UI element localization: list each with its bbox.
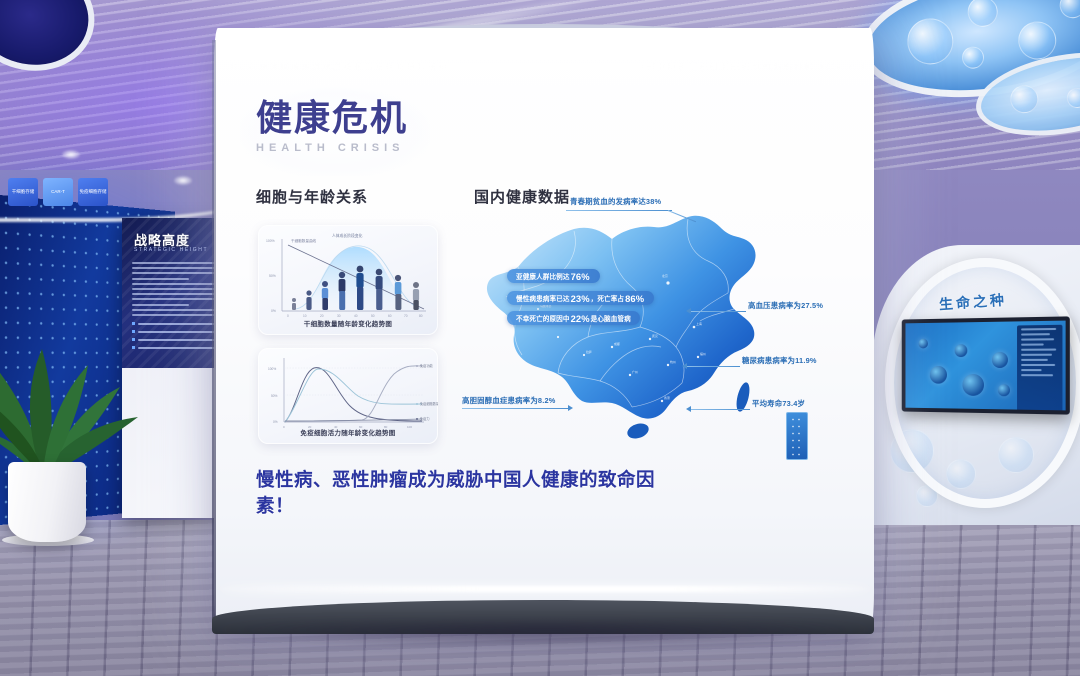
svg-text:免疫功能: 免疫功能 bbox=[420, 363, 434, 368]
strategy-panel-cards: 干细胞存储 CAR-T 免疫细胞存储 bbox=[8, 178, 108, 206]
svg-text:杭州: 杭州 bbox=[670, 359, 676, 364]
callout-anemia: 青春期贫血的发病率达38% bbox=[570, 196, 661, 207]
strategy-panel-subtitle: STRATEGIC HEIGHT bbox=[134, 247, 208, 253]
svg-text:广州: 广州 bbox=[632, 369, 638, 374]
svg-text:0%: 0% bbox=[271, 309, 276, 313]
callout-life-expectancy: 平均寿命73.4岁 bbox=[752, 398, 805, 409]
chart-card-immune-cells[interactable]: 100% 50% 0% 020 4060 80100 免疫功能 免疫细胞数量 免… bbox=[258, 348, 438, 444]
callout-diabetes: 糖尿病患病率为11.9% bbox=[742, 355, 817, 366]
svg-text:50%: 50% bbox=[269, 274, 276, 278]
section-title-cells: 细胞与年龄关系 bbox=[256, 186, 368, 207]
callout-cholesterol: 高胆固醇血症患病率为8.2% bbox=[462, 395, 556, 406]
svg-text:武汉: 武汉 bbox=[652, 333, 658, 338]
bubble-decor-icon bbox=[1065, 86, 1080, 109]
china-map-svg: 北京上海 武汉成都 拉萨乌鲁木齐 广州杭州 福州香港 西宁 bbox=[462, 205, 842, 455]
wall-left-edge bbox=[212, 40, 216, 618]
panel-card[interactable]: 免疫细胞存储 bbox=[78, 178, 108, 206]
tagline: 慢性病、恶性肿瘤成为威胁中国人健康的致命因素！ bbox=[256, 466, 676, 518]
pill-cardiovascular: 不幸死亡的原因中22%是心脑血管病 bbox=[507, 311, 640, 325]
svg-text:50%: 50% bbox=[271, 394, 278, 398]
cell-graphic-icon bbox=[962, 374, 984, 396]
callout-line bbox=[566, 210, 672, 211]
svg-text:免疫细胞数量: 免疫细胞数量 bbox=[420, 401, 438, 406]
svg-text:0%: 0% bbox=[273, 420, 278, 424]
cell-graphic-icon bbox=[919, 339, 928, 349]
svg-text:拉萨: 拉萨 bbox=[586, 349, 592, 354]
svg-text:福州: 福州 bbox=[700, 351, 706, 356]
svg-text:人体成长阶段变化: 人体成长阶段变化 bbox=[332, 233, 363, 238]
south-china-sea-inset bbox=[786, 412, 808, 460]
svg-text:干细胞数量曲线: 干细胞数量曲线 bbox=[291, 238, 317, 243]
panel-card[interactable]: 干细胞存储 bbox=[8, 178, 38, 206]
bubble-decor-icon bbox=[961, 45, 986, 70]
callout-arrow-icon bbox=[682, 363, 687, 369]
strategy-panel-text-block bbox=[132, 262, 224, 319]
bullet-dot-icon bbox=[132, 330, 135, 333]
ceiling-spot-light bbox=[174, 176, 192, 185]
chart-caption-stem-cells: 干细胞数量随年龄变化趋势图 bbox=[258, 318, 438, 328]
plant-pot bbox=[8, 462, 86, 542]
pill-chronic-disease: 慢性病患病率已达23%，死亡率占86% bbox=[507, 291, 654, 305]
callout-hypertension: 高血压患病率为27.5% bbox=[748, 300, 823, 311]
panel-card[interactable]: CAR-T bbox=[43, 178, 73, 206]
callout-line bbox=[690, 409, 750, 410]
page-title: 健康危机 bbox=[256, 100, 408, 136]
screen-info-sidebar bbox=[1017, 325, 1062, 414]
bubble-decor-icon bbox=[966, 0, 1000, 29]
exhibit-display-screen[interactable] bbox=[902, 316, 1070, 414]
cell-graphic-icon bbox=[955, 344, 968, 357]
svg-text:上海: 上海 bbox=[696, 321, 702, 326]
callout-arrow-icon bbox=[686, 406, 691, 412]
page-subtitle: HEALTH CRISIS bbox=[256, 142, 408, 154]
bubble-decor-icon bbox=[1016, 19, 1059, 62]
cell-graphic-icon bbox=[998, 384, 1010, 396]
bubble-decor-icon bbox=[904, 15, 956, 67]
wall-bottom-light-strip bbox=[220, 586, 870, 592]
page-title-block: 健康危机 HEALTH CRISIS bbox=[256, 100, 408, 154]
ceiling-spot-light bbox=[62, 150, 80, 159]
section-title-health-data: 国内健康数据 bbox=[474, 186, 570, 207]
pill-subhealth: 亚健康人群比例达76% bbox=[507, 269, 600, 283]
svg-text:100%: 100% bbox=[268, 367, 276, 371]
svg-text:免疫力: 免疫力 bbox=[420, 416, 430, 421]
callout-arrow-icon bbox=[568, 405, 573, 411]
svg-text:成都: 成都 bbox=[614, 341, 620, 346]
china-map[interactable]: 北京上海 武汉成都 拉萨乌鲁木齐 广州杭州 福州香港 西宁 bbox=[462, 205, 842, 455]
chart-card-stem-cells[interactable]: 100% 50% 0% 干细胞数量曲线 人体成长阶段变化 010 2030 bbox=[258, 225, 438, 335]
svg-text:北京: 北京 bbox=[662, 273, 668, 278]
chart-caption-immune-cells: 免疫细胞活力随年龄变化趋势图 bbox=[258, 427, 438, 437]
bullet-dot-icon bbox=[132, 322, 135, 325]
svg-text:100%: 100% bbox=[266, 239, 275, 243]
callout-line bbox=[686, 366, 740, 367]
wall-top-light-strip bbox=[222, 64, 866, 69]
potted-plant-leaves bbox=[0, 335, 150, 475]
bubble-decor-icon bbox=[1008, 83, 1040, 115]
bubble-decor-icon bbox=[1058, 0, 1080, 20]
callout-arrow-icon bbox=[686, 308, 691, 314]
svg-text:香港: 香港 bbox=[664, 395, 670, 400]
wall-floor-shadow bbox=[200, 622, 890, 648]
exhibition-scene: 战略高度 STRATEGIC HEIGHT 干细胞存储 CAR-T 免疫细胞存储 bbox=[0, 0, 1080, 676]
cell-graphic-icon bbox=[992, 352, 1008, 368]
callout-line bbox=[690, 311, 746, 312]
callout-line bbox=[462, 408, 570, 409]
screen-content bbox=[905, 321, 1065, 411]
cell-graphic-icon bbox=[930, 366, 947, 384]
